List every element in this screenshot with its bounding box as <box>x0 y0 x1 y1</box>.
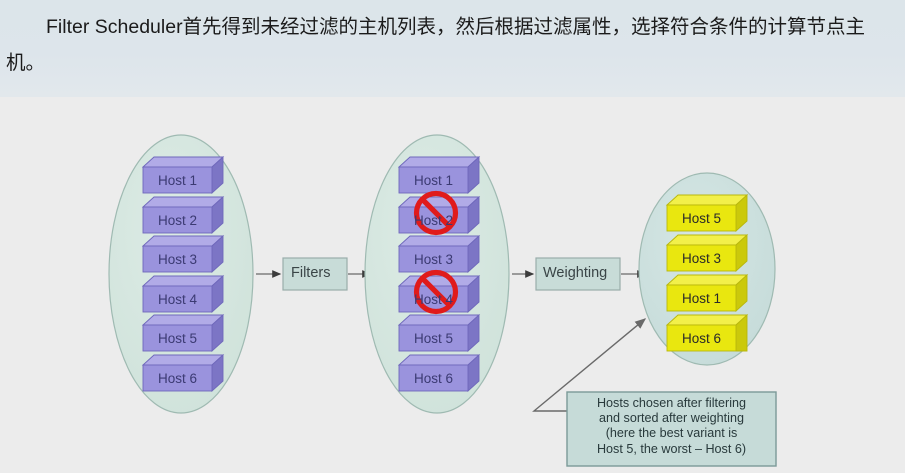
host-box <box>667 235 747 271</box>
host-box <box>143 315 223 351</box>
host-box <box>399 157 479 193</box>
host-box <box>143 355 223 391</box>
caption-label: Hosts chosen after filtering and sorted … <box>569 396 774 457</box>
filters-label[interactable]: Filters <box>291 265 330 281</box>
host-box <box>667 275 747 311</box>
host-box <box>143 197 223 233</box>
screenshot-root: Filter Scheduler首先得到未经过滤的主机列表，然后根据过滤属性，选… <box>0 0 905 473</box>
host-box <box>143 276 223 312</box>
weighting-label[interactable]: Weighting <box>543 265 607 281</box>
header-text-band: Filter Scheduler首先得到未经过滤的主机列表，然后根据过滤属性，选… <box>0 0 905 97</box>
host-box <box>667 315 747 351</box>
host-box <box>399 355 479 391</box>
intro-paragraph: Filter Scheduler首先得到未经过滤的主机列表，然后根据过滤属性，选… <box>0 0 905 81</box>
filter-scheduler-diagram: Host 1 Host 2 Host 3 Host 4 Host 5 Host … <box>0 97 905 473</box>
host-box <box>399 236 479 272</box>
host-box <box>399 315 479 351</box>
host-box <box>143 157 223 193</box>
host-box <box>667 195 747 231</box>
host-box <box>143 236 223 272</box>
